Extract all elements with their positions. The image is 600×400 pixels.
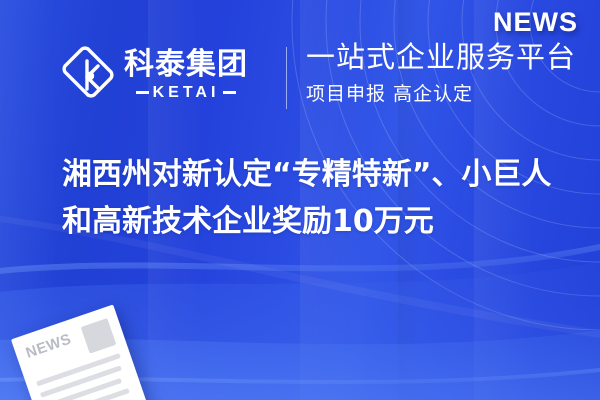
logo-english-row: KETAI xyxy=(136,85,237,101)
kp-diamond-monogram-icon xyxy=(60,44,116,106)
header-divider xyxy=(286,47,287,109)
news-banner: 科泰集团 KETAI 一站式企业服务平台 项目申报 高企认定 NEWS 湘西州对… xyxy=(0,0,600,400)
logo-dash-right xyxy=(223,91,236,94)
newspaper-title: NEWS xyxy=(24,331,74,362)
logo-english-name: KETAI xyxy=(153,85,220,101)
news-tag: NEWS xyxy=(493,7,578,38)
slogan-block: 一站式企业服务平台 项目申报 高企认定 xyxy=(306,42,576,106)
slogan-main: 一站式企业服务平台 xyxy=(306,42,576,74)
newspaper-image-block xyxy=(81,318,117,354)
banner-header: 科泰集团 KETAI 一站式企业服务平台 项目申报 高企认定 NEWS xyxy=(0,0,600,130)
logo-chinese-name: 科泰集团 xyxy=(124,50,248,80)
brand-logo[interactable]: 科泰集团 KETAI xyxy=(60,44,248,106)
logo-dash-left xyxy=(136,91,149,94)
slogan-sub: 项目申报 高企认定 xyxy=(306,79,576,106)
page-title: 湘西州对新认定“专精特新”、小巨人和高新技术企业奖励10万元 xyxy=(62,152,562,246)
